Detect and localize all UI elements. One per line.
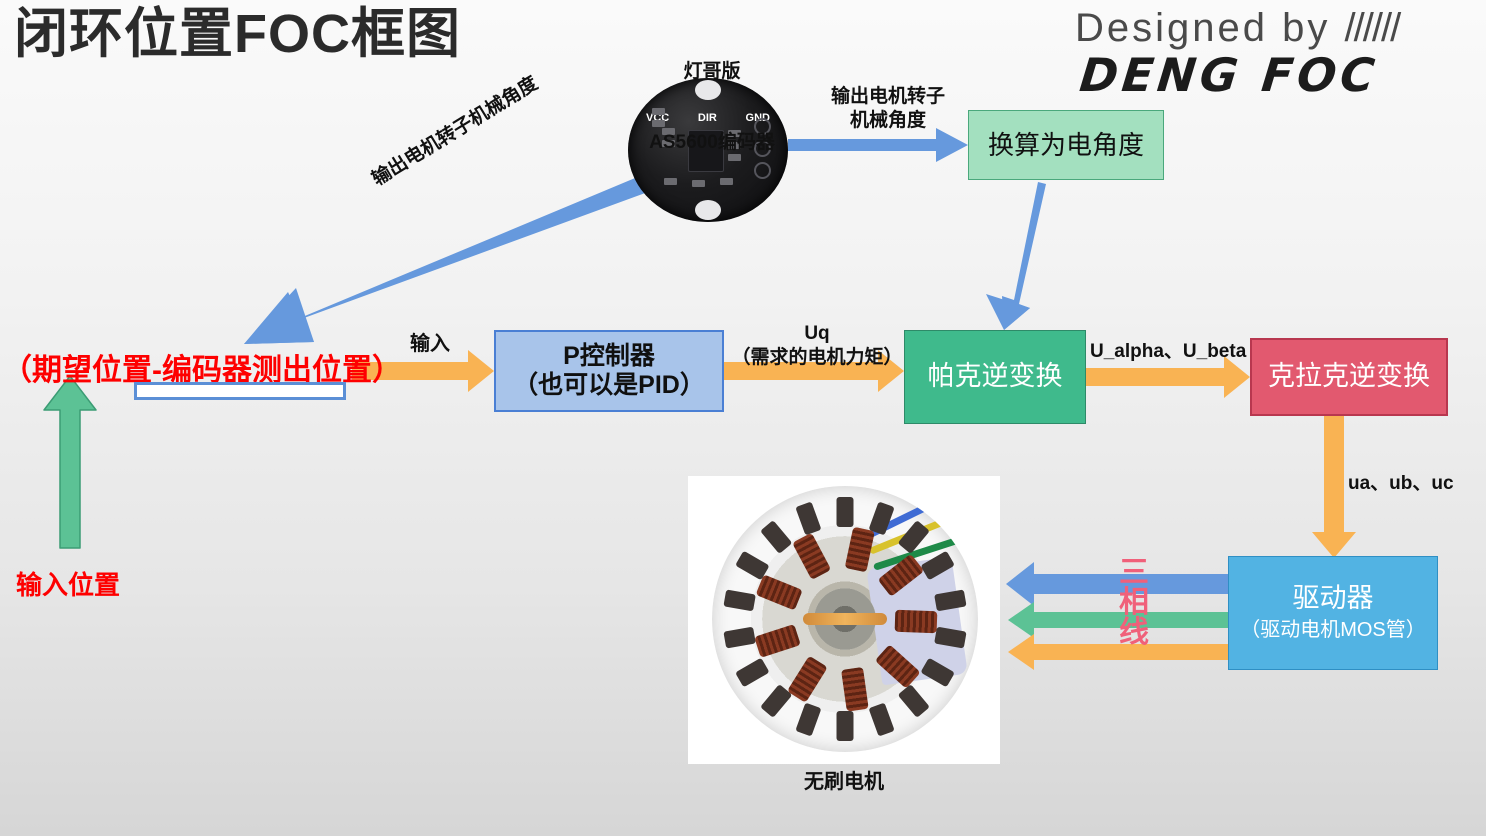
encoder-caption-line1: 灯哥版 [612, 60, 812, 84]
three-phase-char: 线 [1114, 618, 1154, 648]
node-inverse-park[interactable]: 帕克逆变换 [904, 330, 1086, 424]
motor-stator-segment [837, 711, 854, 741]
motor-coil [841, 667, 869, 712]
motor-caption: 无刷电机 [688, 770, 1000, 795]
node-inverse-park-label: 帕克逆变换 [928, 361, 1063, 393]
node-p-controller-line2: （也可以是PID） [513, 371, 705, 401]
label-input: 输入 [390, 332, 470, 357]
encoder-caption: 灯哥版 AS5600编码器 [612, 12, 812, 202]
label-three-phase-lines: 三相线 [1114, 558, 1154, 648]
motor-stator-segment [735, 658, 769, 688]
node-driver-line2: （驱动电机MOS管） [1240, 619, 1426, 643]
node-driver[interactable]: 驱动器 （驱动电机MOS管） [1228, 556, 1438, 670]
motor-stator-segment [795, 703, 821, 737]
label-mechanical-angle-output: 输出电机转子 机械角度 [798, 85, 978, 133]
motor-coil [787, 656, 828, 703]
motor-coil [754, 624, 801, 658]
motor-coil [895, 610, 938, 633]
label-feedback-mechanical-angle: 输出电机转子机械角度 [366, 53, 568, 191]
node-p-controller-line1: P控制器 [563, 342, 655, 372]
motor-stator-segment [868, 703, 894, 737]
encoder-mount-hole-bottom [695, 200, 721, 220]
node-p-controller[interactable]: P控制器 （也可以是PID） [494, 330, 724, 412]
label-u-alpha-beta: U_alpha、U_beta [1090, 340, 1250, 364]
motor-coil [792, 533, 831, 580]
brushless-motor-image [688, 476, 1000, 764]
motor-stator-segment [837, 497, 854, 527]
node-electrical-angle-label: 换算为电角度 [988, 130, 1144, 161]
page-title: 闭环位置FOC框图 [14, 6, 461, 63]
slashes-decoration: ////// [1345, 6, 1400, 50]
input-position-label: 输入位置 [16, 565, 120, 602]
node-driver-line1: 驱动器 [1293, 583, 1374, 615]
motor-shaft [803, 613, 887, 625]
arrow-encoder-feedback [244, 176, 648, 344]
motor-stator-segment [723, 589, 755, 611]
three-phase-char: 三 [1114, 558, 1154, 588]
arrow-encoder-to-electrical-angle [788, 128, 968, 162]
brand-logo: DENG FOC [1077, 48, 1381, 102]
arrow-electrical-angle-to-park [986, 182, 1046, 330]
label-uq: Uq （需求的电机力矩） [722, 322, 912, 370]
summing-node-bar [134, 382, 346, 400]
motor-stator-segment [898, 684, 930, 718]
node-electrical-angle[interactable]: 换算为电角度 [968, 110, 1164, 180]
motor-photo [712, 486, 978, 752]
three-phase-char: 相 [1114, 588, 1154, 618]
motor-stator-segment [760, 520, 792, 554]
arrow-input-position [44, 376, 96, 548]
motor-coil [756, 574, 803, 610]
motor-stator-segment [795, 501, 821, 535]
designed-by-label: Designed by [1075, 6, 1330, 50]
label-u-abc: ua、ub、uc [1348, 472, 1478, 496]
designed-by-text: Designed by ////// [1075, 6, 1399, 51]
motor-coil [845, 527, 875, 573]
motor-stator-segment [934, 589, 966, 611]
node-inverse-clarke-label: 克拉克逆变换 [1268, 361, 1430, 393]
node-inverse-clarke[interactable]: 克拉克逆变换 [1250, 338, 1448, 416]
motor-stator-segment [723, 627, 755, 649]
diagram-canvas: 闭环位置FOC框图 Designed by ////// DENG FOC VC… [0, 0, 1486, 836]
encoder-caption-line2: AS5600编码器 [612, 131, 812, 155]
